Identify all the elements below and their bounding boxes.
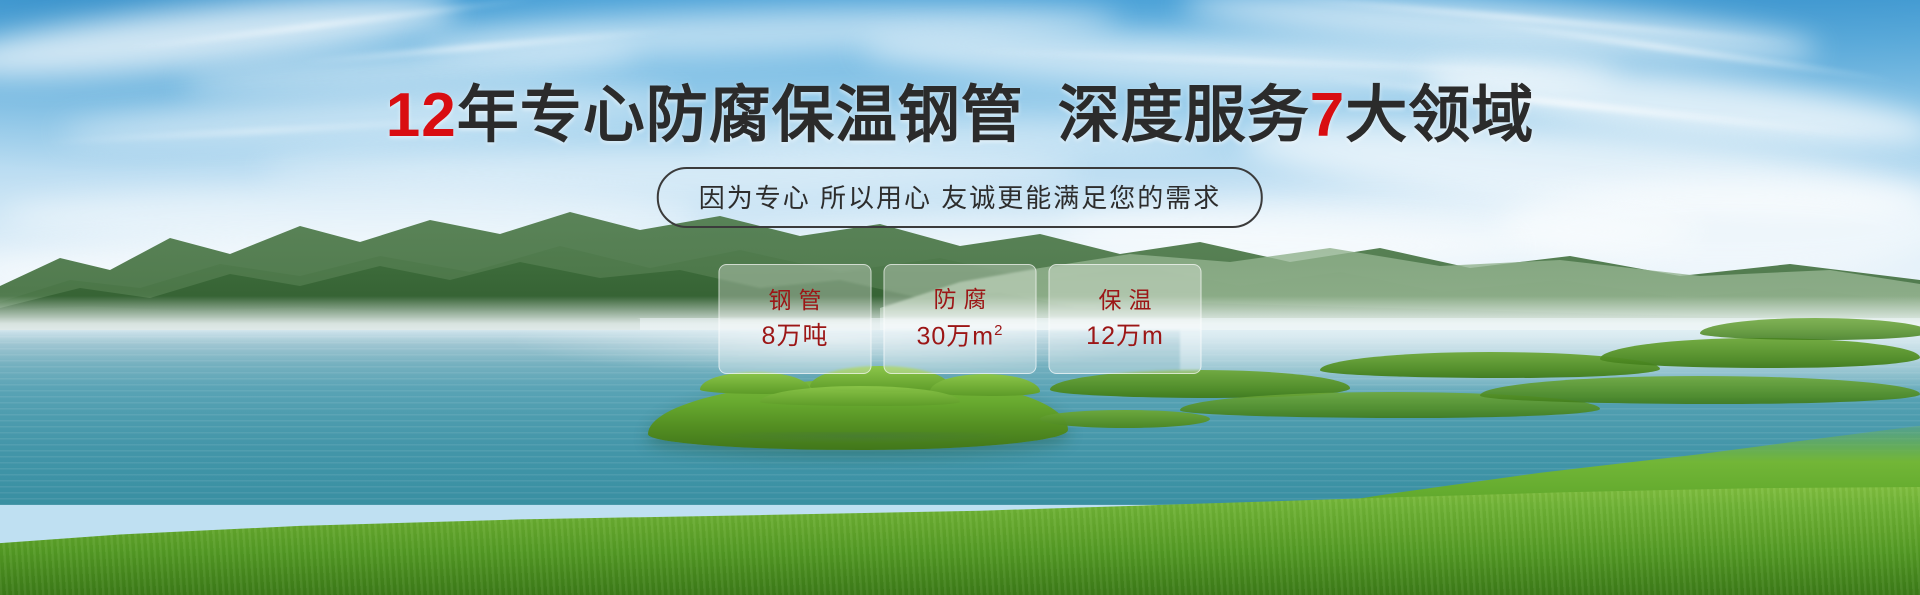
hero-banner: 12年专心防腐保温钢管深度服务7大领域 因为专心 所以用心 友诚更能满足您的需求… bbox=[0, 0, 1920, 595]
headline-years-number: 12 bbox=[386, 81, 457, 150]
stat-card-value: 12万m bbox=[1086, 324, 1164, 349]
headline-part3: 大领域 bbox=[1345, 81, 1534, 150]
banner-headline: 12年专心防腐保温钢管深度服务7大领域 bbox=[0, 80, 1920, 152]
stat-card-value-main: 12万m bbox=[1086, 322, 1164, 350]
island-shadow bbox=[640, 432, 1080, 452]
stat-card-value-main: 8万吨 bbox=[762, 322, 829, 350]
stat-card-value: 30万m2 bbox=[917, 323, 1004, 349]
headline-part1: 年专心防腐保温钢管 bbox=[457, 81, 1024, 150]
stat-card-label: 钢管 bbox=[762, 289, 829, 312]
stat-card-value-superscript: 2 bbox=[994, 322, 1003, 339]
headline-fields-number: 7 bbox=[1310, 81, 1345, 150]
stat-card-label: 保温 bbox=[1092, 289, 1159, 312]
stat-card-anticorrosion: 防腐 30万m2 bbox=[884, 264, 1037, 374]
headline-part2: 深度服务 bbox=[1058, 81, 1310, 150]
stat-card-value: 8万吨 bbox=[762, 324, 829, 349]
stat-card-value-main: 30万m bbox=[917, 323, 995, 351]
small-island bbox=[1040, 410, 1210, 428]
stat-card-steel-pipe: 钢管 8万吨 bbox=[719, 264, 872, 374]
stat-card-label: 防腐 bbox=[927, 288, 994, 311]
stat-card-insulation: 保温 12万m bbox=[1049, 264, 1202, 374]
banner-subtitle: 因为专心 所以用心 友诚更能满足您的需求 bbox=[657, 167, 1263, 228]
stat-card-group: 钢管 8万吨 防腐 30万m2 保温 12万m bbox=[719, 264, 1202, 374]
